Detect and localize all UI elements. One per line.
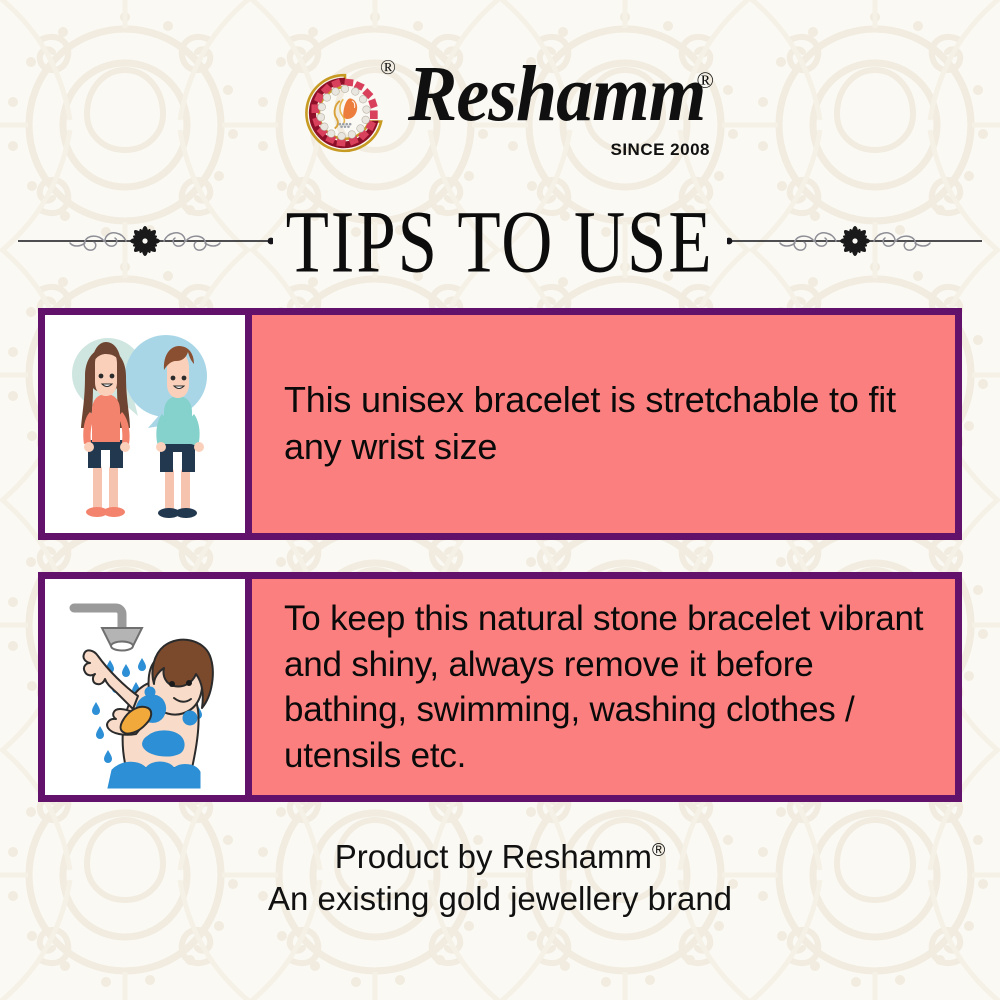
brand-emblem-wrapper: ® <box>302 55 394 159</box>
footer-product-by: Product by Reshamm® <box>0 838 1000 877</box>
footer-product-by-text: Product by Reshamm <box>335 838 652 875</box>
footer-tagline: An existing gold jewellery brand <box>0 880 1000 919</box>
tip-card-2-text: To keep this natural stone bracelet vibr… <box>284 596 929 778</box>
tip-card-2: To keep this natural stone bracelet vibr… <box>38 572 962 802</box>
emblem-registered-mark: ® <box>380 57 396 78</box>
flourish-flower-divider-icon-left <box>18 213 273 269</box>
brand-header: ® Reshamm ® SINCE 2008 <box>0 42 1000 172</box>
title-row: TIPS TO USE <box>0 196 1000 286</box>
brand-since-text: SINCE 2008 <box>611 140 711 160</box>
tip-card-2-media <box>45 579 252 795</box>
reshamm-circular-jewel-emblem-icon <box>302 69 388 157</box>
person-showering-icon <box>52 584 238 790</box>
flourish-flower-divider-icon-right <box>727 213 982 269</box>
tip-card-1: This unisex bracelet is stretchable to f… <box>38 308 962 540</box>
brand-registered-mark: ® <box>697 68 714 94</box>
brand-wordmark-wrapper: Reshamm ® SINCE 2008 <box>408 52 698 162</box>
tip-card-1-media <box>45 315 252 533</box>
couple-speech-bubbles-icon <box>52 320 238 528</box>
page-title: TIPS TO USE <box>280 196 720 285</box>
footer-registered-mark: ® <box>652 840 665 860</box>
brand-wordmark: Reshamm <box>408 54 705 134</box>
tip-card-1-body: This unisex bracelet is stretchable to f… <box>252 315 955 533</box>
footer: Product by Reshamm® An existing gold jew… <box>0 838 1000 919</box>
tip-card-2-body: To keep this natural stone bracelet vibr… <box>252 579 955 795</box>
tip-card-1-text: This unisex bracelet is stretchable to f… <box>284 377 929 471</box>
